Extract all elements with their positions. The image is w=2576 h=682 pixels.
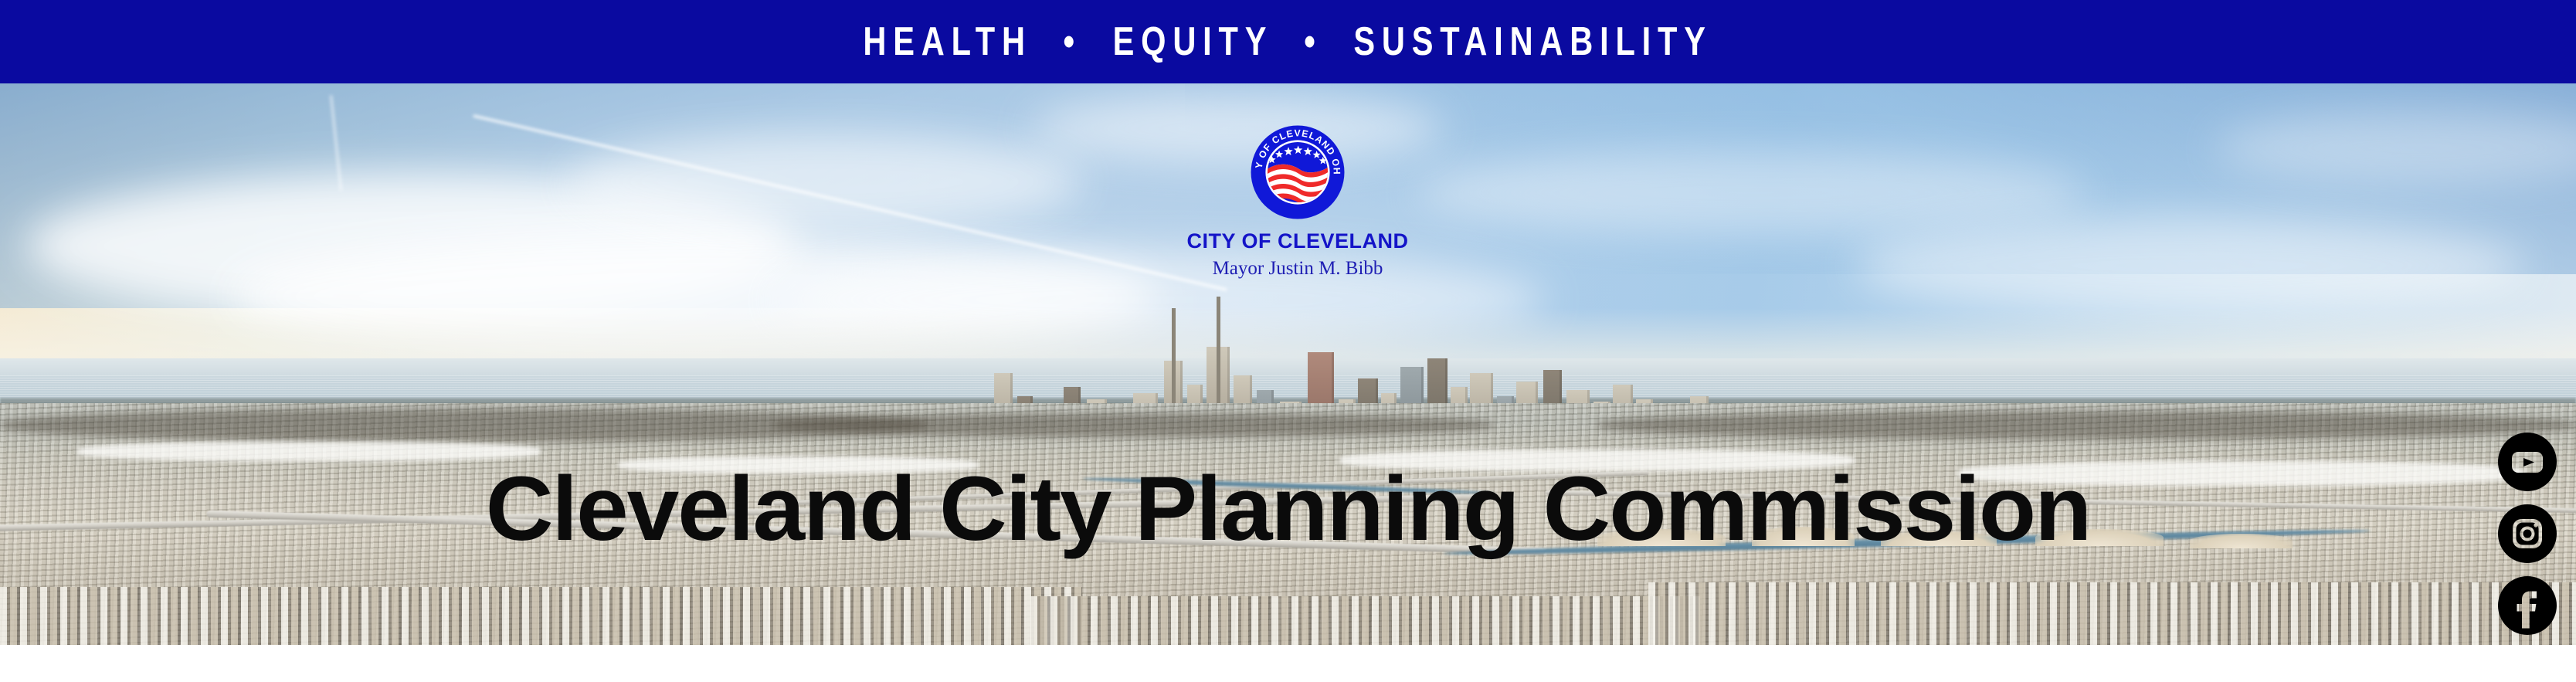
top-banner: HEALTH • EQUITY • SUSTAINABILITY xyxy=(0,0,2576,83)
youtube-icon[interactable] xyxy=(2498,433,2557,491)
cloud xyxy=(1855,218,2524,314)
city-logo-block[interactable]: CITY OF CLEVELAND OHIO CITY OF CLEVELAND… xyxy=(1147,124,1448,278)
cloud xyxy=(567,134,1082,229)
facebook-icon[interactable] xyxy=(2498,576,2557,635)
page-root: HEALTH • EQUITY • SUSTAINABILITY xyxy=(0,0,2576,682)
hero-photo-container: CITY OF CLEVELAND OHIO CITY OF CLEVELAND… xyxy=(0,83,2576,645)
cloud xyxy=(1417,151,2086,235)
social-media-rail xyxy=(2498,433,2557,635)
banner-tagline: HEALTH • EQUITY • SUSTAINABILITY xyxy=(864,22,1712,62)
page-title: Cleveland City Planning Commission xyxy=(0,463,2576,555)
logo-title: CITY OF CLEVELAND xyxy=(1147,231,1448,252)
instagram-icon[interactable] xyxy=(2498,504,2557,563)
city-of-cleveland-seal-icon: CITY OF CLEVELAND OHIO xyxy=(1249,124,1346,221)
logo-subtitle-mayor: Mayor Justin M. Bibb xyxy=(1147,259,1448,278)
